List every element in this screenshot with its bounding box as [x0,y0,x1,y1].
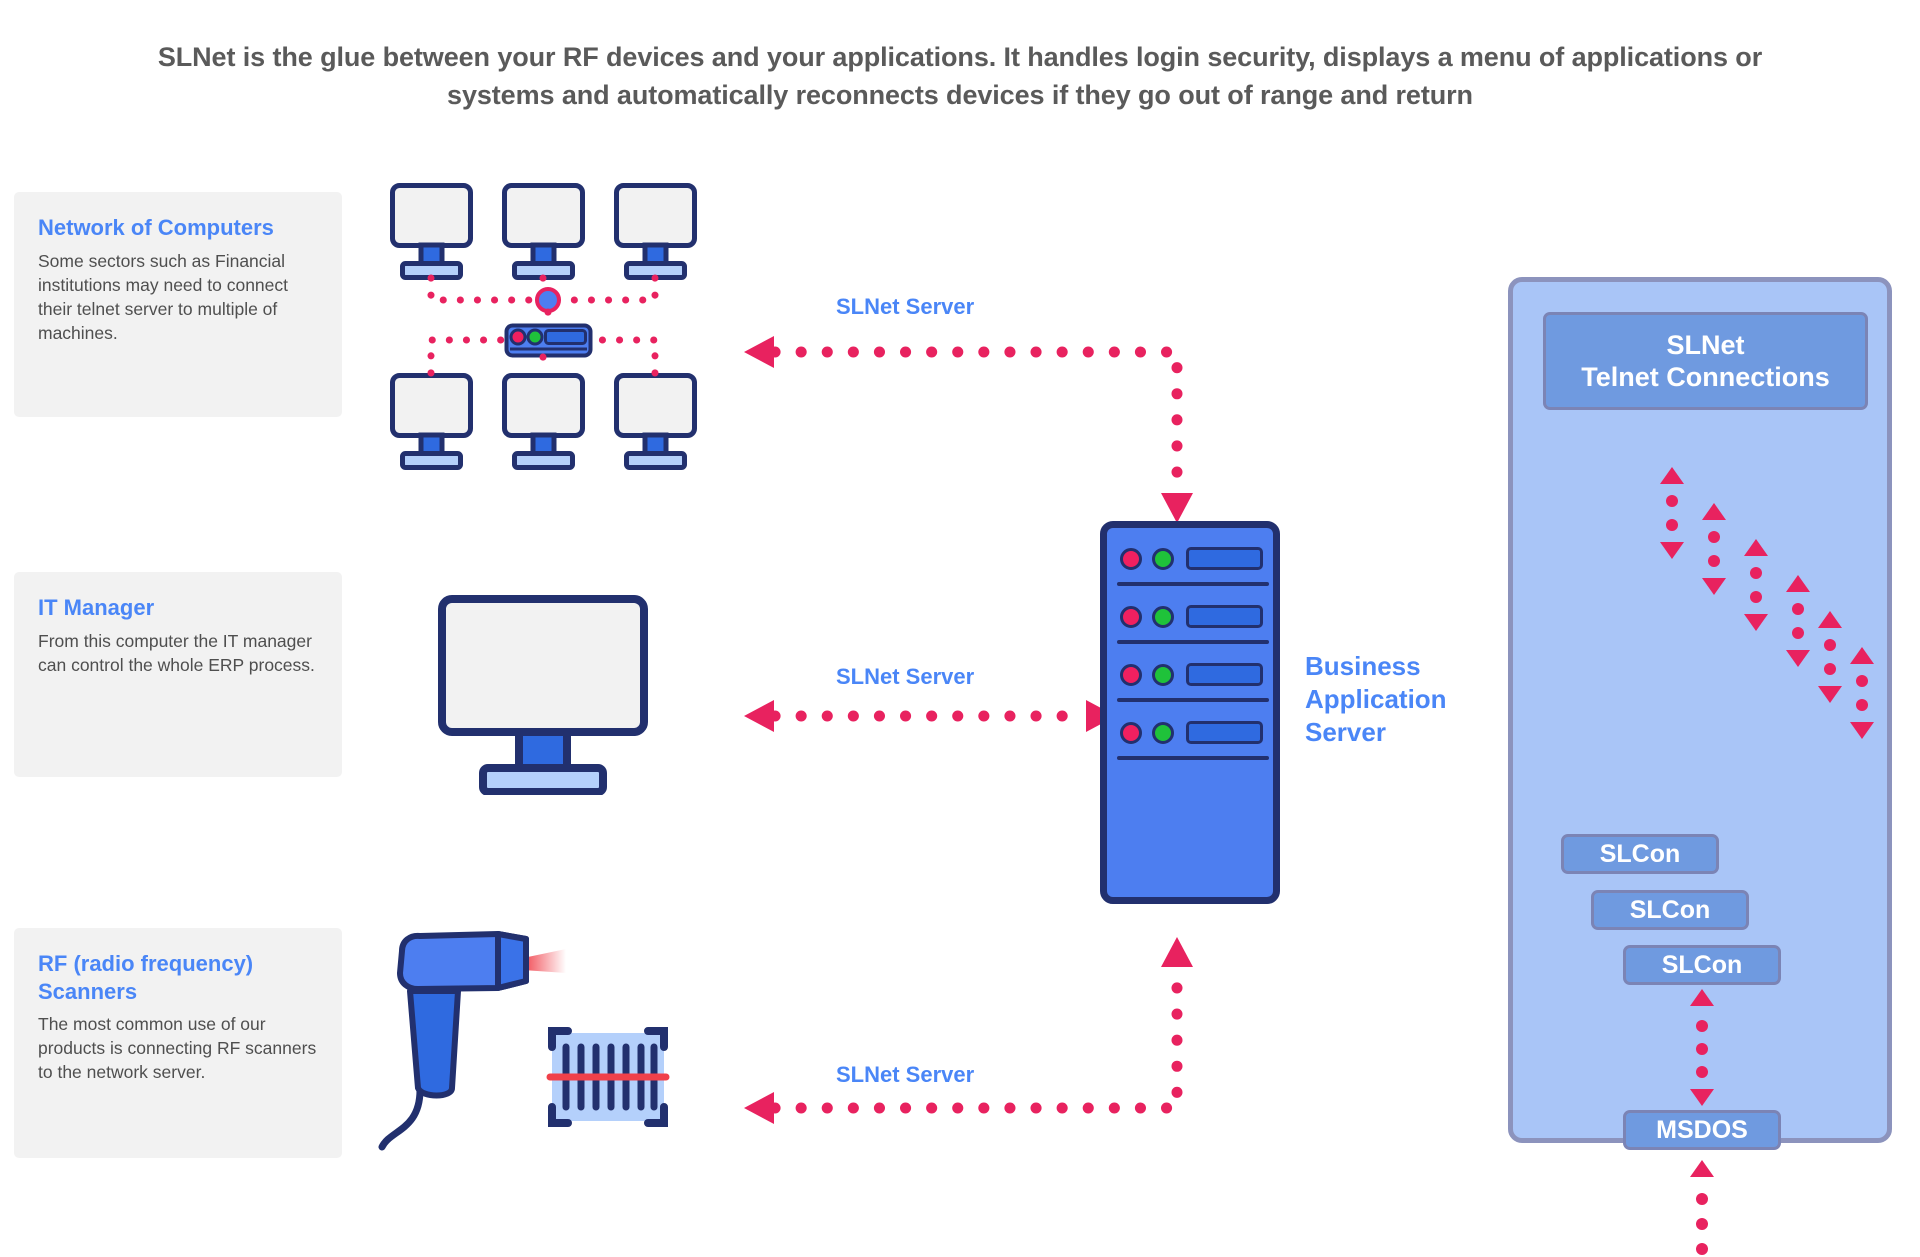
server-led-red [1120,548,1142,570]
rf-scanner-illustration [370,925,700,1160]
it-manager-monitor-illustration [438,595,648,795]
slnet-telnet-connections-panel: SLNet Telnet Connections [1508,277,1892,1143]
connector-network-to-server [740,330,1200,530]
info-card-title: RF (radio frequency) Scanners [38,950,318,1005]
info-card-network-of-computers: Network of Computers Some sectors such a… [14,192,342,417]
server-led-green [1152,664,1174,686]
info-card-body: The most common use of our products is c… [38,1012,318,1084]
server-led-green [1152,722,1174,744]
cascade-arrow [1786,575,1810,667]
server-led-green [1152,548,1174,570]
panel-header-line2: Telnet Connections [1581,362,1830,392]
info-card-title: Network of Computers [38,214,318,242]
arrow-slcon-to-msdos [1682,989,1722,1109]
monitor-bottom-right [617,376,695,468]
server-bay [1107,716,1273,774]
monitor-top-right [617,186,695,278]
connector-itmanager-to-server [740,693,1120,739]
server-label: Business Application Server [1305,650,1495,748]
arrowhead-down [1161,493,1193,523]
cascade-arrow [1702,503,1726,595]
barcode-target [550,1031,666,1123]
connector-scanner-to-server [740,915,1200,1125]
laser-beam [523,949,566,973]
scanner-cable [382,1090,420,1147]
server-bay-divider [1117,756,1269,760]
slcon-box-1: SLCon [1561,834,1719,874]
panel-header-line1: SLNet [1666,330,1744,360]
cascade-arrows [1559,467,1889,767]
info-card-title: IT Manager [38,594,318,622]
server-drive-slot [1186,663,1263,686]
msdos-box: MSDOS [1623,1110,1781,1150]
monitor-bottom-center [505,376,583,468]
arrowhead-left [744,1092,774,1124]
connector-label-network: SLNet Server [836,294,974,320]
network-switch [507,326,591,356]
monitor-bottom-left [393,376,471,468]
arrow-msdos-to-userapp [1682,1160,1722,1257]
info-card-rf-scanners: RF (radio frequency) Scanners The most c… [14,928,342,1158]
scanner-head [498,934,526,988]
connector-label-itmanager: SLNet Server [836,664,974,690]
cascade-arrow [1744,539,1768,631]
page-title: SLNet is the glue between your RF device… [140,38,1780,115]
server-led-green [1152,606,1174,628]
cascade-arrow [1818,611,1842,703]
server-bay [1107,658,1273,716]
monitor-top-left [393,186,471,278]
network-of-computers-illustration [382,175,712,480]
server-led-red [1120,722,1142,744]
server-led-red [1120,664,1142,686]
monitor-top-center [505,186,583,278]
server-bay [1107,600,1273,658]
info-card-it-manager: IT Manager From this computer the IT man… [14,572,342,777]
server-bay-divider [1117,640,1269,644]
server-bay [1107,542,1273,600]
business-application-server [1100,521,1280,904]
slcon-box-3: SLCon [1623,945,1781,985]
server-drive-slot [1186,547,1263,570]
arrowhead-left [744,700,774,732]
info-card-body: From this computer the IT manager can co… [38,629,318,677]
network-hub-node [537,289,559,311]
arrowhead-up [1161,937,1193,967]
server-led-red [1120,606,1142,628]
scanner-grip [410,991,458,1096]
server-drive-slot [1186,605,1263,628]
server-drive-slot [1186,721,1263,744]
slcon-box-2: SLCon [1591,890,1749,930]
diagram-canvas: SLNet is the glue between your RF device… [0,0,1920,1257]
server-bay-divider [1117,582,1269,586]
info-card-body: Some sectors such as Financial instituti… [38,249,318,346]
cascade-arrow [1850,647,1874,739]
server-bay-divider [1117,698,1269,702]
cascade-arrow [1660,467,1684,559]
panel-header-box: SLNet Telnet Connections [1543,312,1868,410]
arrowhead-left [744,336,774,368]
